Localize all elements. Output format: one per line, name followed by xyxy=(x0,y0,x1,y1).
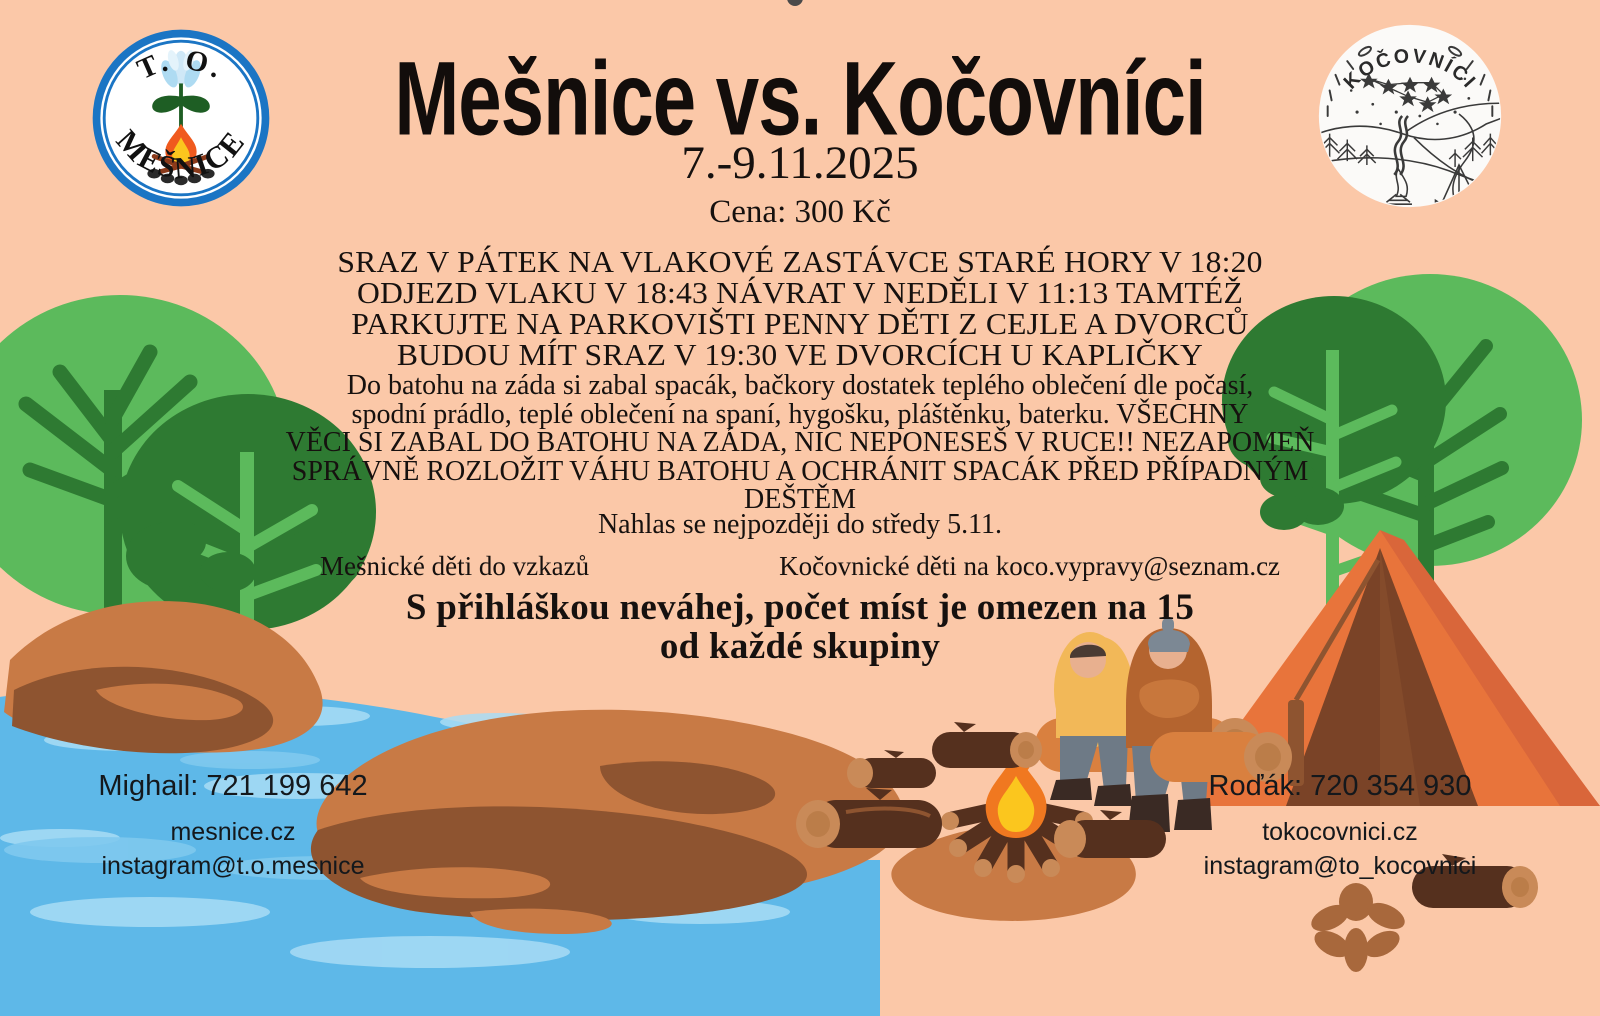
signup-deadline: Nahlas se nejpozději do středy 5.11. xyxy=(0,511,1600,539)
meeting-line: SRAZ V PÁTEK NA VLAKOVÉ ZASTÁVCE STARÉ H… xyxy=(0,246,1600,277)
packing-line: spodní prádlo, teplé oblečení na spaní, … xyxy=(265,401,1335,430)
contact-kocovnici-web[interactable]: tokocovnici.cz xyxy=(1130,816,1550,850)
contact-kocovnici-name: Roďák: 720 354 930 xyxy=(1130,768,1550,804)
contact-kocovnici: Roďák: 720 354 930 tokocovnici.cz instag… xyxy=(1130,768,1550,884)
contact-mesnice-name: Mighail: 721 199 642 xyxy=(38,768,428,804)
packing-line: SPRÁVNĚ ROZLOŽIT VÁHU BATOHU A OCHRÁNIT … xyxy=(265,458,1335,487)
meeting-line: ODJEZD VLAKU V 18:43 NÁVRAT V NEDĚLI V 1… xyxy=(0,277,1600,308)
meeting-line: BUDOU MÍT SRAZ V 19:30 VE DVORCÍCH U KAP… xyxy=(0,339,1600,370)
meeting-line: PARKUJTE NA PARKOVIŠTI PENNY DĚTI Z CEJL… xyxy=(0,308,1600,339)
capacity-notice: S přihláškou neváhej, počet míst je omez… xyxy=(0,589,1600,667)
contact-mesnice-web[interactable]: mesnice.cz xyxy=(38,816,428,850)
contact-kocovnici-instagram[interactable]: instagram@to_kocovnici xyxy=(1130,850,1550,884)
contact-mesnice-instagram[interactable]: instagram@t.o.mesnice xyxy=(38,850,428,884)
signup-row: Mešnické děti do vzkazů Kočovnické děti … xyxy=(0,553,1600,580)
packing-line: Do batohu na záda si zabal spacák, bačko… xyxy=(265,372,1335,401)
meeting-info-block: SRAZ V PÁTEK NA VLAKOVÉ ZASTÁVCE STARÉ H… xyxy=(0,246,1600,370)
capacity-line: od každé skupiny xyxy=(0,628,1600,667)
signup-kocovnici: Kočovnické děti na koco.vypravy@seznam.c… xyxy=(779,553,1280,580)
contact-mesnice: Mighail: 721 199 642 mesnice.cz instagra… xyxy=(38,768,428,884)
poster-canvas: T. O. MEŠNICE xyxy=(0,0,1600,1016)
packing-line: VĚCI SI ZABAL DO BATOHU NA ZÁDA, NIC NEP… xyxy=(265,429,1335,458)
packing-info-block: Do batohu na záda si zabal spacák, bačko… xyxy=(265,372,1335,515)
logo-kocovnici: KOČOVNÍCI xyxy=(1312,18,1508,214)
logo-mesnice: T. O. MEŠNICE xyxy=(85,22,277,214)
capacity-line: S přihláškou neváhej, počet míst je omez… xyxy=(0,589,1600,628)
signup-mesnice: Mešnické děti do vzkazů xyxy=(320,553,589,580)
